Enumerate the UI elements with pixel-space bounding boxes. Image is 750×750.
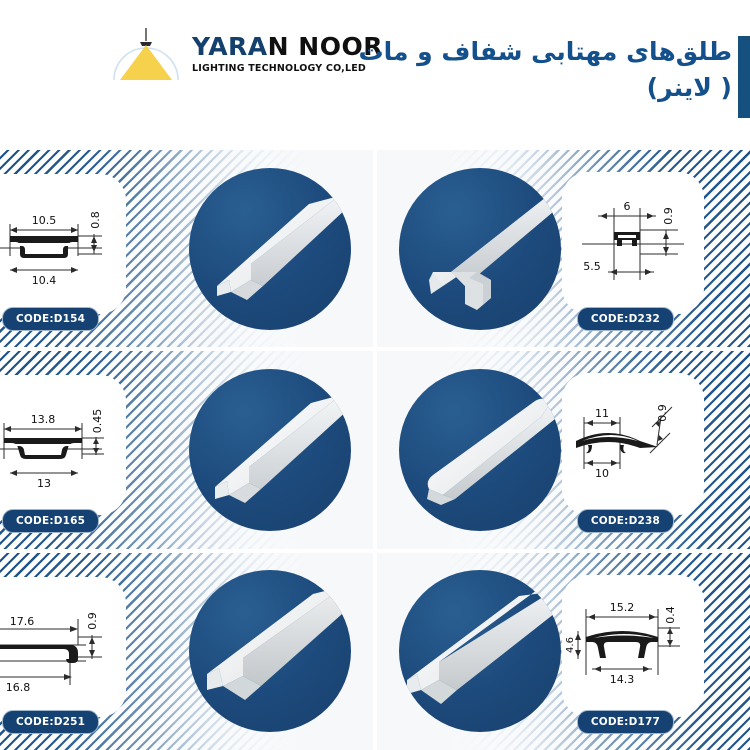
dimension-card: 13.8 13 0.45: [0, 375, 126, 515]
code-badge: CODE:D251: [2, 710, 99, 734]
dimension-card: 15.2 14.3 0.4 4.6: [562, 575, 704, 717]
dim-bottom-width: 10: [595, 467, 609, 480]
brand-name-part1: YARA: [192, 32, 268, 61]
dim-thickness: 0.8: [89, 211, 102, 229]
brand-tagline: LIGHTING TECHNOLOGY CO,LED: [192, 63, 366, 74]
product-grid: 10.5 10.4 0.8 CODE:D154: [0, 150, 750, 750]
dim-bottom-width: 14.3: [610, 673, 635, 686]
page-title-line2: ( لاینر): [358, 70, 732, 106]
dim-top-width: 6: [624, 200, 631, 213]
dim-top-width: 17.6: [10, 615, 35, 628]
product-photo: [189, 168, 351, 330]
product-cell-d165[interactable]: 13.8 13 0.45 CODE:D165: [0, 351, 373, 548]
dim-thickness: 0.4: [664, 606, 677, 624]
page-title-line1: طلق‌های مهتابی شفاف و مات: [358, 34, 732, 70]
dim-height: 4.6: [565, 637, 576, 653]
product-cell-d154[interactable]: 10.5 10.4 0.8 CODE:D154: [0, 150, 373, 347]
dim-top-width: 10.5: [32, 214, 57, 227]
dimension-card: 11 10 0.9: [562, 373, 704, 515]
code-badge: CODE:D177: [577, 710, 674, 734]
dim-bottom-width: 5.5: [583, 260, 601, 273]
dimension-card: 6 5.5 0.9: [562, 172, 704, 314]
code-badge: CODE:D154: [2, 307, 99, 331]
dim-thickness: 0.9: [86, 612, 99, 630]
product-photo: [189, 369, 351, 531]
product-cell-d232[interactable]: 6 5.5 0.9 CODE:D232: [377, 150, 750, 347]
dimension-card: 10.5 10.4 0.8: [0, 174, 126, 314]
dim-bottom-width: 13: [37, 477, 51, 490]
dim-thickness: 0.9: [656, 405, 669, 423]
page-title: طلق‌های مهتابی شفاف و مات ( لاینر): [358, 34, 732, 107]
title-accent-bar: [738, 36, 750, 118]
pendant-lamp-icon: [110, 22, 182, 86]
product-photo: [189, 570, 351, 732]
brand-name: YARAN NOOR: [192, 34, 383, 60]
product-cell-d251[interactable]: 17.6 16.8 0.9 CODE:D251: [0, 553, 373, 750]
code-badge: CODE:D232: [577, 307, 674, 331]
dim-top-width: 11: [595, 407, 609, 420]
dim-top-width: 15.2: [610, 601, 635, 614]
dim-bottom-width: 10.4: [32, 274, 57, 287]
page-header: YARAN NOOR LIGHTING TECHNOLOGY CO,LED طل…: [0, 0, 750, 150]
code-badge: CODE:D165: [2, 509, 99, 533]
dim-thickness: 0.9: [662, 207, 675, 225]
product-photo: [399, 369, 561, 531]
product-cell-d238[interactable]: 11 10 0.9 CODE:D238: [377, 351, 750, 548]
code-badge: CODE:D238: [577, 509, 674, 533]
product-photo: [399, 168, 561, 330]
dim-bottom-width: 16.8: [6, 681, 31, 694]
dim-thickness: 0.45: [91, 409, 104, 434]
dimension-card: 17.6 16.8 0.9: [0, 577, 126, 717]
dim-top-width: 13.8: [31, 413, 56, 426]
product-photo: [399, 570, 561, 732]
brand-logo: YARAN NOOR LIGHTING TECHNOLOGY CO,LED: [110, 22, 383, 86]
product-cell-d177[interactable]: 15.2 14.3 0.4 4.6 CODE:D177: [377, 553, 750, 750]
